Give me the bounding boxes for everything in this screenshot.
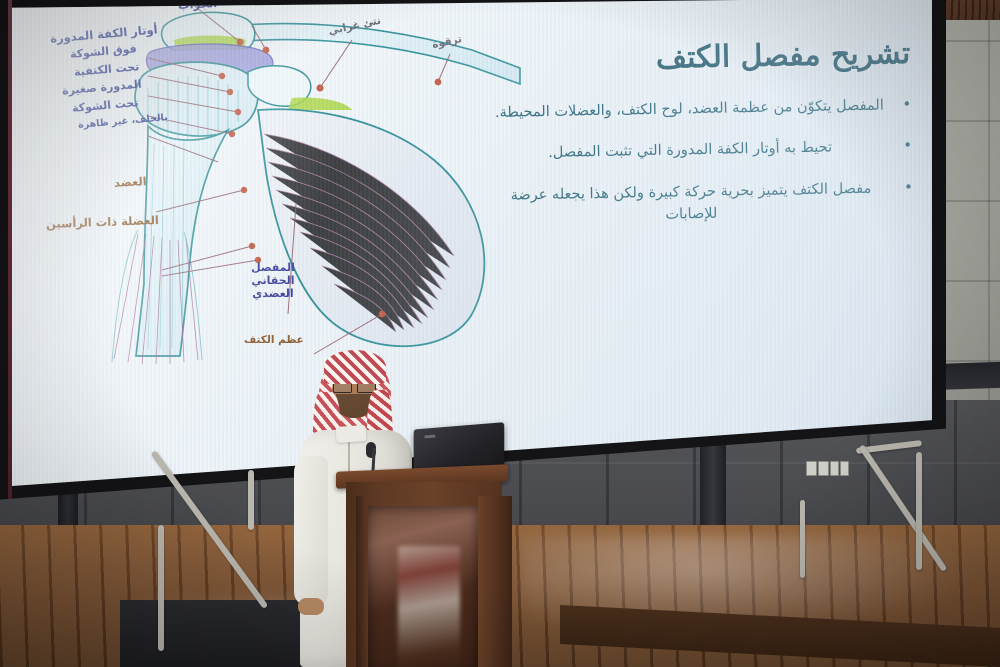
slide-title: تشريح مفصل الكتف	[480, 36, 911, 80]
lectern-panel-reflection	[398, 546, 460, 667]
lecture-hall-scene: الجراب أوتار الكفة المدورة فوق الشوكة تح…	[0, 0, 1000, 667]
slide-bullet-2: تحيط به أوتار الكفة المدورة التي تثبت ال…	[482, 135, 912, 166]
label-scapula: عظم الكتف	[244, 334, 304, 346]
wall-switch-2[interactable]	[818, 461, 829, 476]
handrail-left-post	[158, 525, 164, 651]
slide-bullet-1: المفصل يتكوّن من عظمة العضد، لوح الكتف، …	[481, 94, 911, 125]
slide-text-block: تشريح مفصل الكتف المفصل يتكوّن من عظمة ا…	[480, 36, 914, 249]
lectern	[336, 468, 508, 667]
lectern-right-edge	[478, 496, 512, 667]
lectern-front-panel	[368, 506, 478, 667]
lectern-body	[346, 482, 502, 667]
label-glenohumeral-joint: المفصل الحقاني العضدي	[238, 262, 308, 301]
slide-bullet-3: مفصل الكتف يتميز بحرية حركة كبيرة ولكن ه…	[483, 177, 914, 230]
label-humerus: العضد	[114, 175, 147, 190]
shoulder-anatomy-diagram: الجراب أوتار الكفة المدورة فوق الشوكة تح…	[52, 0, 522, 379]
label-bursa: الجراب	[178, 0, 218, 13]
lectern-left-edge	[356, 496, 367, 667]
stage-step-left	[120, 600, 310, 667]
wall-switch-3[interactable]	[830, 461, 839, 476]
handrail-right-post	[916, 452, 922, 570]
humeral-head	[135, 62, 258, 136]
glenoid-cartilage	[288, 98, 352, 111]
handrail-right-post-secondary	[800, 500, 805, 578]
wall-switch-1[interactable]	[806, 461, 817, 476]
laptop-logo	[424, 435, 435, 439]
wall-outlet[interactable]	[840, 461, 849, 476]
handrail-left-post-secondary	[248, 470, 254, 530]
label-acromioclavicular-joint: المفصل الأخرمي الترقوي	[203, 0, 348, 3]
presentation-slide: الجراب أوتار الكفة المدورة فوق الشوكة تح…	[12, 0, 932, 486]
